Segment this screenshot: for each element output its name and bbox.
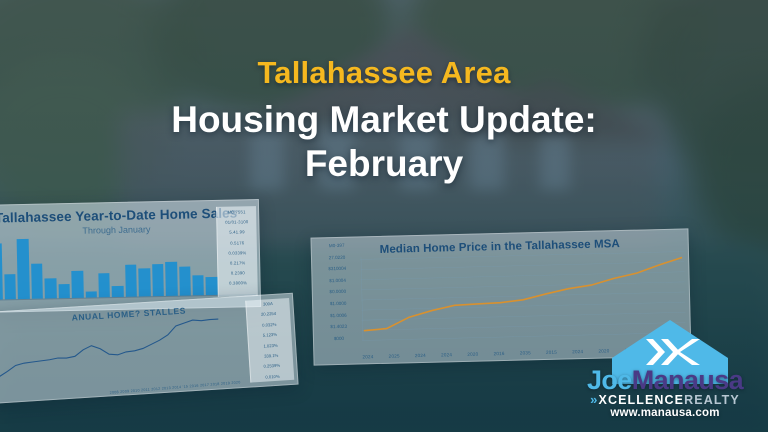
side-table-value: 0.2390 <box>220 270 255 276</box>
chevron-x-icon <box>644 336 702 368</box>
logo-brand-second: Manausa <box>632 365 743 395</box>
title-line-2: February <box>0 142 768 186</box>
bar-chart-bar <box>17 239 30 299</box>
title-block: Tallahassee Area Housing Market Update: … <box>0 56 768 185</box>
x-axis-tick-label: 2025 <box>389 353 400 358</box>
logo-url: www.manausa.com <box>570 407 760 419</box>
side-table-value: 0.010% <box>253 373 292 380</box>
x-axis-tick-label: 2020 <box>467 352 478 357</box>
bar-chart-bar <box>4 274 16 299</box>
y-axis-tick-label: $1.0004 <box>315 277 359 283</box>
bar-chart-plot <box>0 235 218 300</box>
bar-chart-bar <box>58 284 70 298</box>
y-axis-tick-label: $310004 <box>315 266 359 272</box>
title-eyebrow: Tallahassee Area <box>0 56 768 90</box>
bar-chart-bar <box>71 271 83 298</box>
side-table-value: 0.5176 <box>220 240 255 246</box>
chevron-double-icon: » <box>590 392 598 407</box>
logo-tagline: »XCELLENCEREALTY <box>570 393 760 407</box>
x-axis-tick-label: 2024 <box>415 353 426 358</box>
side-table-value: M0-7551 <box>219 209 254 215</box>
logo-brand-first: Joe <box>587 365 632 395</box>
page-title: Housing Market Update: February <box>0 98 768 185</box>
y-axis-tick-label: $1.4023 <box>317 324 361 330</box>
side-table-value: 300A <box>248 300 287 307</box>
bar-chart-bar <box>45 278 57 298</box>
logo-tagline-sub: REALTY <box>684 393 740 407</box>
side-table-value: 0.0339% <box>220 250 255 256</box>
bar-chart-bar <box>112 286 124 297</box>
side-table-value: 339.1% <box>252 352 291 359</box>
side-table-value: 5.123% <box>250 331 289 338</box>
line-chart-side-table: 300A20.22540.032%5.123%1.023%339.1%0.253… <box>245 298 294 383</box>
bar-chart-bar <box>206 277 218 295</box>
side-table-value: 0.2539% <box>252 362 291 369</box>
chart-card-ytd-home-sales: Tallahassee Year-to-Date Home Sales Thro… <box>0 199 261 313</box>
x-axis-tick-label: 2015 <box>546 350 557 355</box>
logo-tagline-main: XCELLENCE <box>599 393 685 407</box>
bar-chart-bar <box>179 266 191 295</box>
bar-chart-side-table: M0-755101/01-31005.41.990.51760.0339%0.2… <box>216 206 258 297</box>
x-axis-tick-label: 2035 <box>520 350 531 355</box>
side-table-value: 20.2254 <box>249 310 288 317</box>
y-axis-tick-label: $1.0000 <box>316 300 360 306</box>
x-axis-tick-label: 2024 <box>441 352 452 357</box>
bar-chart-bar <box>152 264 164 296</box>
bar-chart-bar <box>125 265 137 297</box>
bar-chart-bar <box>192 276 204 296</box>
bar-chart-bar <box>31 263 43 299</box>
x-axis-tick-label: 2016 <box>493 351 504 356</box>
y-axis-tick-label: 27.0220 <box>315 254 359 260</box>
title-line-1: Housing Market Update: <box>171 99 597 140</box>
bar-chart-bar <box>165 262 177 296</box>
side-table-value: 01/01-3100 <box>219 219 254 225</box>
y-axis-tick-label: $0.0000 <box>316 289 360 295</box>
side-table-value: 0.3800% <box>221 280 256 286</box>
y-axis-tick-label: $1.0006 <box>316 312 360 318</box>
brand-logo[interactable]: JoeManausa »XCELLENCEREALTY www.manausa.… <box>570 318 760 420</box>
median-chart-y-labels: M0-39727.0220$310004$1.0004$0.0000$1.000… <box>315 239 362 346</box>
side-table-value: 0.032% <box>250 321 289 328</box>
line-chart-svg <box>0 314 223 390</box>
bar-chart-bar <box>0 244 3 300</box>
side-table-value: 0.217% <box>220 260 255 266</box>
y-axis-tick-label: $000 <box>317 335 361 341</box>
side-table-value: 1.023% <box>251 342 290 349</box>
side-table-value: 5.41.99 <box>219 229 254 235</box>
x-axis-tick-label: 2024 <box>362 354 373 359</box>
logo-wordmark: JoeManausa <box>570 367 760 394</box>
bar-chart-bar <box>98 273 110 297</box>
y-axis-tick-label: M0-397 <box>315 242 359 248</box>
bar-chart-bar <box>139 269 151 297</box>
